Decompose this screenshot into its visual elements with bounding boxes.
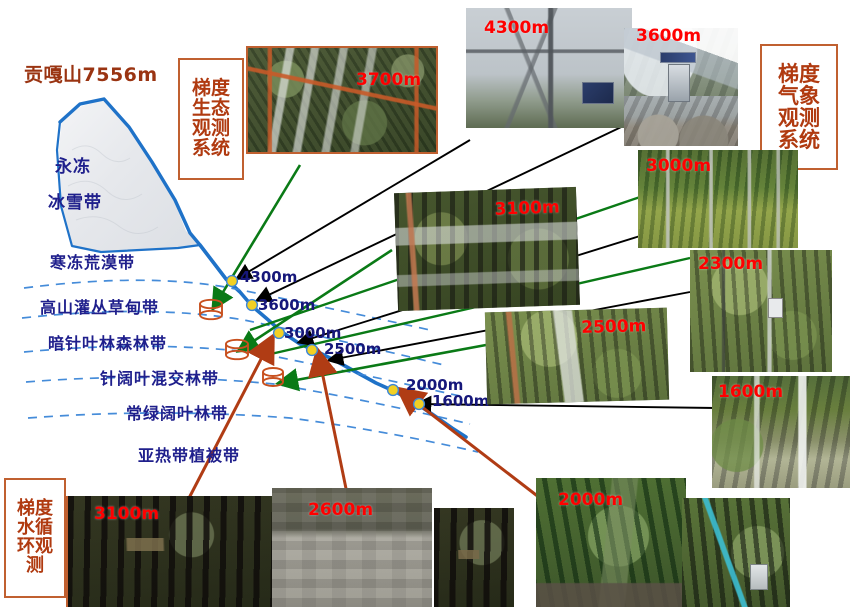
photo-met-3600: 3600m: [624, 28, 738, 146]
peak-label: 贡嘎山7556m: [24, 60, 158, 87]
photo-caption-met-3600: 3600m: [636, 28, 701, 46]
photo-hydro-2600-secondary: [434, 508, 514, 607]
snow-zone-line-2: 冰雪带: [48, 188, 102, 213]
met-box-line-2: 气象: [778, 85, 820, 107]
hydro-box-line-4: 测: [17, 557, 53, 576]
photo-caption-met-3000: 3000m: [646, 156, 711, 176]
photo-hydro-2600: 2600m: [272, 488, 432, 607]
photo-met-2300: 2300m: [690, 250, 832, 372]
met-box-line-1: 梯度: [778, 63, 820, 85]
photo-eco-3100: 3100m: [394, 187, 580, 311]
photo-hydro-2000: 2000m: [536, 478, 686, 607]
figure-canvas: 贡嘎山7556m 永冻 冰雪带 寒冻荒漠带 高山灌丛草甸带 暗针叶林森林带 针阔…: [0, 0, 850, 607]
photo-caption-met-1600: 1600m: [718, 382, 783, 402]
eco-box-line-2: 生态: [192, 99, 230, 119]
elevation-label-3600: 3600m: [258, 296, 315, 314]
zone-label-dark-conifer-forest: 暗针叶林森林带: [48, 330, 167, 354]
zone-label-alpine-shrub-meadow: 高山灌丛草甸带: [40, 294, 159, 318]
photo-caption-hydro-2000: 2000m: [558, 490, 623, 510]
zone-label-cold-desert: 寒冻荒漠带: [50, 249, 135, 273]
photo-caption-eco-2500: 2500m: [581, 316, 647, 338]
photo-caption-eco-3100: 3100m: [494, 197, 560, 219]
zone-label-evergreen-broadleaf: 常绿阔叶林带: [126, 400, 228, 424]
elevation-label-1600: 1600m: [432, 392, 489, 410]
snow-zone-line-1: 永冻: [55, 152, 91, 177]
met-box-line-4: 系统: [778, 129, 820, 151]
eco-box-line-4: 系统: [192, 139, 230, 159]
zone-label-mixed-forest: 针阔叶混交林带: [100, 365, 219, 389]
eco-box-line-3: 观测: [192, 119, 230, 139]
photo-caption-hydro-2600: 2600m: [308, 500, 373, 520]
photo-met-3000: 3000m: [638, 150, 798, 248]
zone-label-subtropical: 亚热带植被带: [138, 442, 240, 466]
photo-hydro-3100: 3100m: [66, 496, 274, 607]
title-box-eco-observation: 梯度 生态 观测 系统: [178, 58, 244, 180]
photo-met-4300: 4300m: [466, 8, 632, 128]
photo-caption-met-4300: 4300m: [484, 18, 549, 38]
elevation-label-4300: 4300m: [240, 268, 297, 286]
photo-eco-3700: 3700m: [246, 46, 438, 154]
photo-met-1600: 1600m: [712, 376, 850, 488]
photo-caption-hydro-3100: 3100m: [94, 504, 159, 524]
photo-caption-eco-3700: 3700m: [356, 70, 421, 90]
title-box-hydro-observation: 梯度 水循 环观 测: [4, 478, 66, 598]
met-box-line-3: 观测: [778, 107, 820, 129]
photo-caption-met-2300: 2300m: [698, 254, 763, 274]
photo-hydro-2000-secondary: [682, 498, 790, 607]
photo-eco-2500: 2500m: [485, 308, 669, 405]
elevation-label-2500: 2500m: [324, 340, 381, 358]
